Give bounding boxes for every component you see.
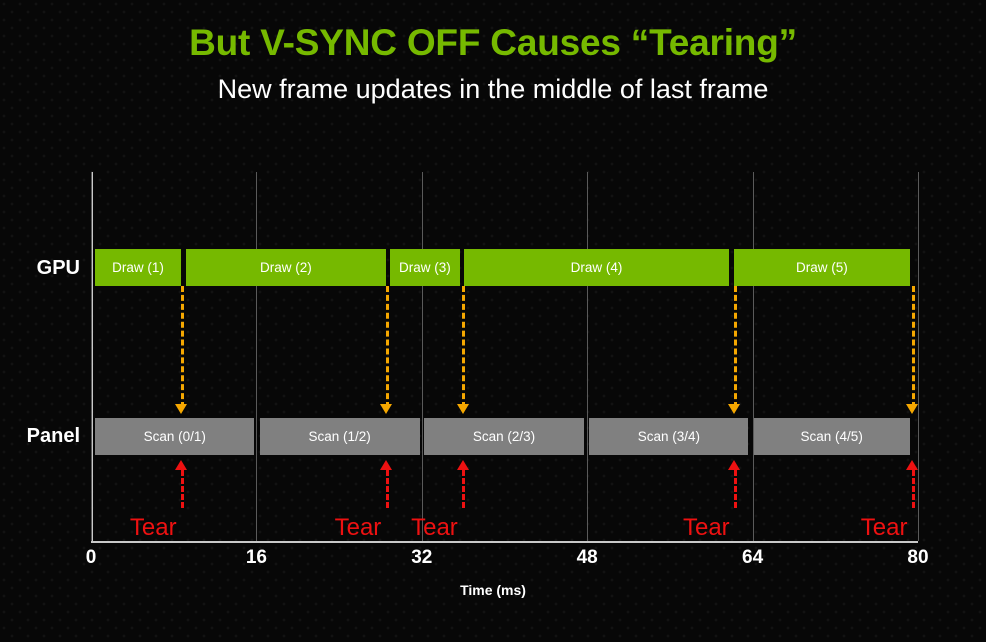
tear-label: Tear xyxy=(335,514,382,542)
x-axis-line xyxy=(91,541,918,543)
panel-scan-bar: Scan (3/4) xyxy=(589,418,748,455)
x-tick-label: 48 xyxy=(557,547,617,569)
gridline xyxy=(753,172,754,541)
panel-scan-bar: Scan (1/2) xyxy=(260,418,420,455)
x-tick-label: 16 xyxy=(226,547,286,569)
tear-label: Tear xyxy=(411,514,458,542)
x-tick-label: 0 xyxy=(61,547,121,569)
tear-label: Tear xyxy=(130,514,177,542)
row-label-gpu: GPU xyxy=(0,257,80,280)
gpu-draw-bar: Draw (2) xyxy=(186,249,386,286)
page-title: But V-SYNC OFF Causes “Tearing” xyxy=(0,22,986,64)
timeline-chart: Draw (1)Draw (2)Draw (3)Draw (4)Draw (5)… xyxy=(91,172,918,543)
gridline xyxy=(587,172,588,541)
gpu-draw-bar: Draw (1) xyxy=(95,249,181,286)
gpu-draw-bar: Draw (4) xyxy=(464,249,729,286)
x-axis-label: Time (ms) xyxy=(0,582,986,598)
gridline xyxy=(422,172,423,541)
page-subtitle: New frame updates in the middle of last … xyxy=(0,74,986,105)
x-tick-label: 80 xyxy=(888,547,948,569)
row-label-panel: Panel xyxy=(0,425,80,448)
gpu-draw-bar: Draw (3) xyxy=(390,249,460,286)
x-tick-label: 64 xyxy=(723,547,783,569)
tear-label: Tear xyxy=(683,514,730,542)
panel-scan-bar: Scan (4/5) xyxy=(754,418,910,455)
gridline xyxy=(91,172,92,541)
tear-label: Tear xyxy=(861,514,908,542)
panel-scan-bar: Scan (2/3) xyxy=(424,418,584,455)
gridline xyxy=(918,172,919,541)
gpu-draw-bar: Draw (5) xyxy=(734,249,910,286)
slide-stage: But V-SYNC OFF Causes “Tearing” New fram… xyxy=(0,0,986,642)
gridline xyxy=(256,172,257,541)
panel-scan-bar: Scan (0/1) xyxy=(95,418,254,455)
x-tick-label: 32 xyxy=(392,547,452,569)
